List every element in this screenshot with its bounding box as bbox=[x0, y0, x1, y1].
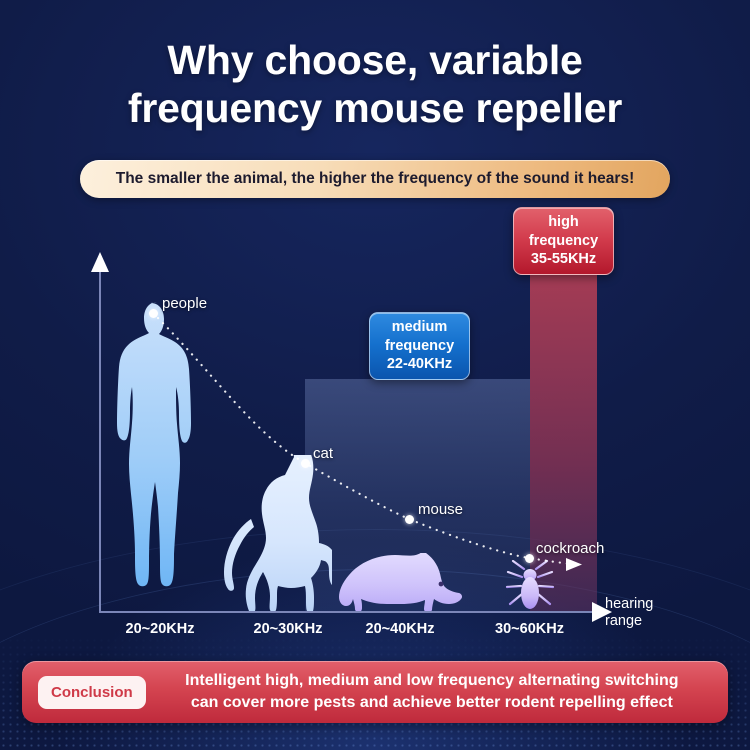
page-title: Why choose, variable frequency mouse rep… bbox=[0, 36, 750, 133]
data-point-cat bbox=[301, 459, 310, 468]
subtitle-text: The smaller the animal, the higher the f… bbox=[116, 170, 635, 188]
data-point-cockroach bbox=[525, 554, 534, 563]
x-axis bbox=[99, 611, 599, 613]
conclusion-text-line-2: can cover more pests and achieve better … bbox=[150, 692, 714, 714]
data-point-label-people: people bbox=[162, 295, 207, 312]
data-point-label-cockroach: cockroach bbox=[536, 540, 604, 557]
medium-frequency-badge: medium frequency 22-40KHz bbox=[369, 312, 470, 380]
high-frequency-badge-line-1: high bbox=[524, 213, 603, 232]
subtitle-banner: The smaller the animal, the higher the f… bbox=[80, 160, 670, 198]
conclusion-banner: Conclusion Intelligent high, medium and … bbox=[22, 661, 728, 723]
x-tick-cockroach: 30~60KHz bbox=[472, 621, 587, 637]
data-point-label-mouse: mouse bbox=[418, 501, 463, 518]
data-point-label-cat: cat bbox=[313, 445, 333, 462]
medium-frequency-badge-line-1: medium bbox=[380, 318, 459, 337]
x-axis-label: hearing range bbox=[605, 596, 695, 631]
x-axis-label-line-1: hearing bbox=[605, 596, 695, 613]
poster-canvas: Why choose, variable frequency mouse rep… bbox=[0, 0, 750, 750]
medium-frequency-badge-line-2: frequency bbox=[380, 337, 459, 356]
mouse-silhouette bbox=[337, 553, 463, 612]
page-title-line-2: frequency mouse repeller bbox=[0, 84, 750, 132]
conclusion-text: Intelligent high, medium and low frequen… bbox=[146, 670, 728, 713]
cockroach-silhouette bbox=[505, 560, 555, 612]
y-axis bbox=[99, 265, 101, 612]
conclusion-text-line-1: Intelligent high, medium and low frequen… bbox=[150, 670, 714, 692]
x-axis-label-line-2: range bbox=[605, 613, 695, 630]
x-tick-mouse: 20~40KHz bbox=[345, 621, 455, 637]
high-frequency-badge: high frequency 35-55KHz bbox=[513, 207, 614, 275]
people-silhouette bbox=[110, 300, 210, 612]
x-tick-people: 20~20KHz bbox=[105, 621, 215, 637]
cat-silhouette bbox=[218, 455, 332, 612]
high-frequency-badge-line-2: frequency bbox=[524, 232, 603, 251]
page-title-line-1: Why choose, variable bbox=[0, 36, 750, 84]
medium-frequency-badge-line-3: 22-40KHz bbox=[380, 355, 459, 374]
hearing-range-chart: people cat mouse cockroach high frequenc… bbox=[0, 200, 750, 645]
data-point-mouse bbox=[405, 515, 414, 524]
x-tick-cat: 20~30KHz bbox=[233, 621, 343, 637]
conclusion-chip: Conclusion bbox=[38, 676, 146, 709]
high-frequency-badge-line-3: 35-55KHz bbox=[524, 250, 603, 269]
y-axis-arrow-icon bbox=[91, 252, 109, 272]
data-point-people bbox=[149, 309, 158, 318]
